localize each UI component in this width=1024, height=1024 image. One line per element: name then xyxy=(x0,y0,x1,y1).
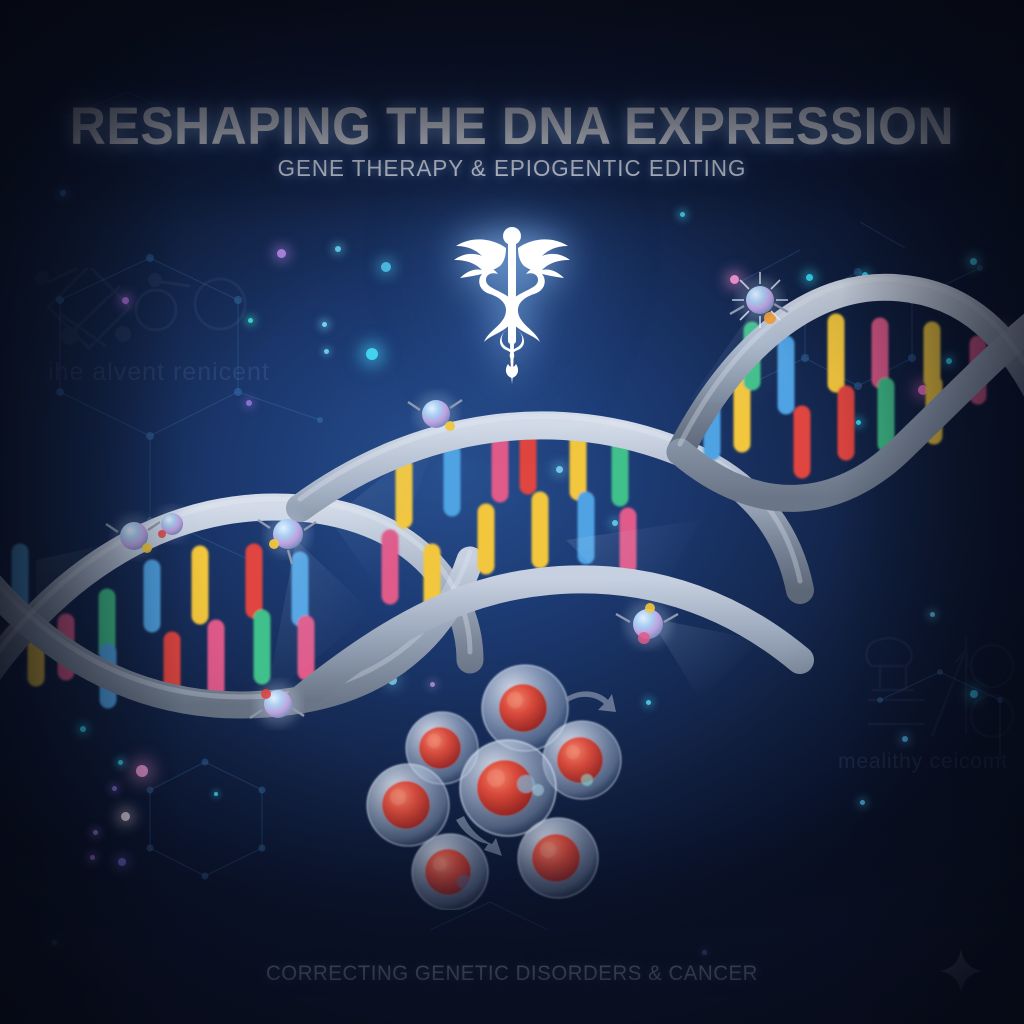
global-vignette xyxy=(0,0,1024,1024)
poster-canvas: ihe alvent renicent mealithy ceicomt RES… xyxy=(0,0,1024,1024)
